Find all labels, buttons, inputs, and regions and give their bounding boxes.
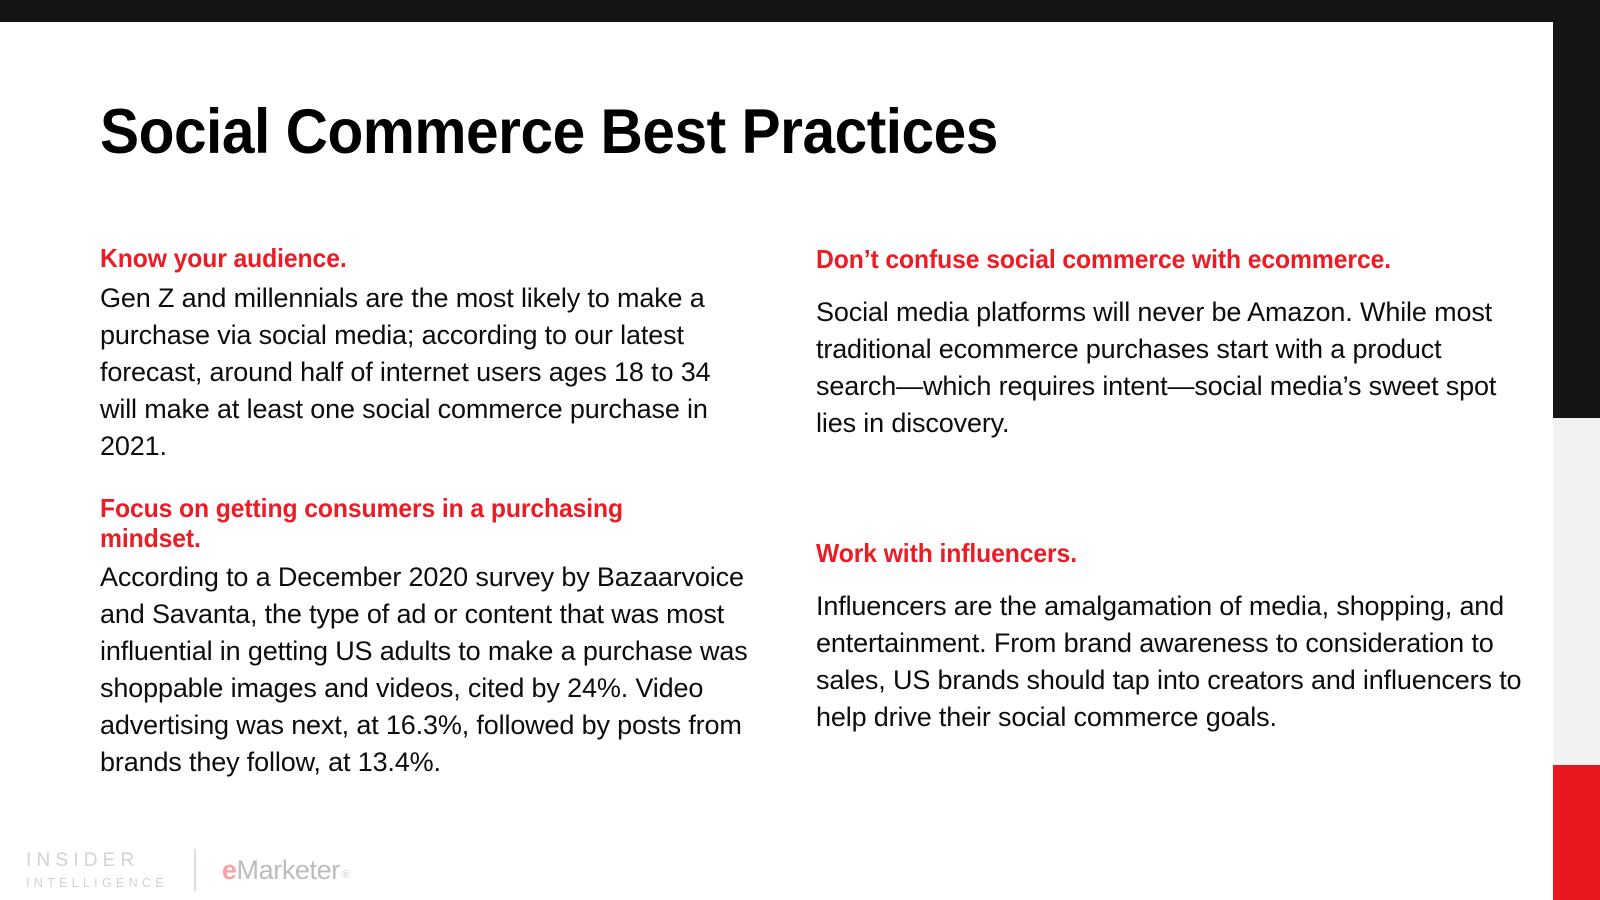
right-edge-strip-gray bbox=[1553, 418, 1600, 765]
slide-content-area: Social Commerce Best Practices Know your… bbox=[0, 22, 1553, 900]
footer-logos: INSIDER INTELLIGENCE eMarketer® bbox=[26, 842, 350, 898]
section-body-work-with-influencers: Influencers are the amalgamation of medi… bbox=[816, 588, 1528, 736]
section-heading-dont-confuse: Don’t confuse social commerce with ecomm… bbox=[816, 245, 1492, 275]
right-edge-strip-red bbox=[1553, 765, 1600, 900]
section-heading-work-with-influencers: Work with influencers. bbox=[816, 539, 1492, 569]
emarketer-trademark-icon: ® bbox=[342, 869, 350, 881]
page-title: Social Commerce Best Practices bbox=[100, 100, 998, 164]
emarketer-logo-e: e bbox=[222, 855, 237, 886]
slide-canvas: Social Commerce Best Practices Know your… bbox=[0, 0, 1600, 900]
insider-logo-line-1: INSIDER bbox=[26, 849, 139, 873]
insider-logo-line-2: INTELLIGENCE bbox=[26, 876, 168, 892]
logo-divider bbox=[194, 849, 196, 891]
section-purchasing-mindset: Focus on getting consumers in a purchasi… bbox=[100, 494, 750, 781]
section-heading-know-your-audience: Know your audience. bbox=[100, 244, 718, 274]
section-heading-purchasing-mindset: Focus on getting consumers in a purchasi… bbox=[100, 494, 718, 553]
section-body-purchasing-mindset: According to a December 2020 survey by B… bbox=[100, 559, 750, 781]
top-black-bar bbox=[0, 0, 1600, 22]
emarketer-logo: eMarketer® bbox=[222, 855, 350, 886]
right-edge-strip-black bbox=[1553, 22, 1600, 418]
section-dont-confuse: Don’t confuse social commerce with ecomm… bbox=[816, 245, 1528, 442]
emarketer-logo-word: Marketer bbox=[237, 855, 340, 886]
section-body-dont-confuse: Social media platforms will never be Ama… bbox=[816, 294, 1528, 442]
insider-intelligence-logo: INSIDER INTELLIGENCE bbox=[26, 849, 168, 891]
section-work-with-influencers: Work with influencers. Influencers are t… bbox=[816, 539, 1528, 736]
section-know-your-audience: Know your audience. Gen Z and millennial… bbox=[100, 244, 750, 465]
section-body-know-your-audience: Gen Z and millennials are the most likel… bbox=[100, 280, 750, 465]
